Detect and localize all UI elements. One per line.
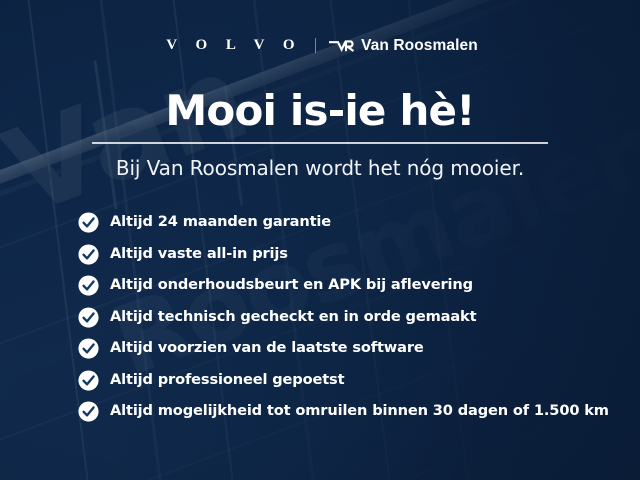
list-item: Altijd voorzien van de laatste software [78,338,622,359]
brand-separator [315,38,316,53]
promo-banner: Van Roosmalen V O L V O Van Roosmalen [0,0,640,480]
vr-monogram-icon [329,38,355,53]
benefit-label: Altijd voorzien van de laatste software [110,340,424,356]
benefit-label: Altijd onderhoudsbeurt en APK bij afleve… [110,277,473,293]
volvo-wordmark: V O L V O [162,38,302,53]
list-item: Altijd technisch gecheckt en in orde gem… [78,307,622,328]
brand-lockup: V O L V O Van Roosmalen [0,38,640,54]
dealer-name: Van Roosmalen [361,38,478,54]
list-item: Altijd 24 maanden garantie [78,212,622,233]
dealer-lockup: Van Roosmalen [329,38,478,54]
benefit-label: Altijd vaste all-in prijs [110,246,288,262]
benefit-label: Altijd 24 maanden garantie [110,214,331,230]
check-circle-icon [78,212,99,233]
check-circle-icon [78,244,99,265]
list-item: Altijd onderhoudsbeurt en APK bij afleve… [78,275,622,296]
banner-content: V O L V O Van Roosmalen Mooi is-ie hè! B… [0,0,640,480]
list-item: Altijd professioneel gepoetst [78,370,622,391]
check-circle-icon [78,275,99,296]
page-title: Mooi is-ie hè! [0,90,640,132]
check-circle-icon [78,307,99,328]
benefit-label: Altijd mogelijkheid tot omruilen binnen … [110,403,609,419]
page-subtitle: Bij Van Roosmalen wordt het nóg mooier. [0,155,640,181]
benefits-list: Altijd 24 maanden garantie Altijd vaste … [78,212,622,422]
check-circle-icon [78,338,99,359]
benefit-label: Altijd technisch gecheckt en in orde gem… [110,309,476,325]
check-circle-icon [78,401,99,422]
benefit-label: Altijd professioneel gepoetst [110,372,344,388]
title-divider [92,142,548,144]
list-item: Altijd vaste all-in prijs [78,244,622,265]
list-item: Altijd mogelijkheid tot omruilen binnen … [78,401,622,422]
check-circle-icon [78,370,99,391]
